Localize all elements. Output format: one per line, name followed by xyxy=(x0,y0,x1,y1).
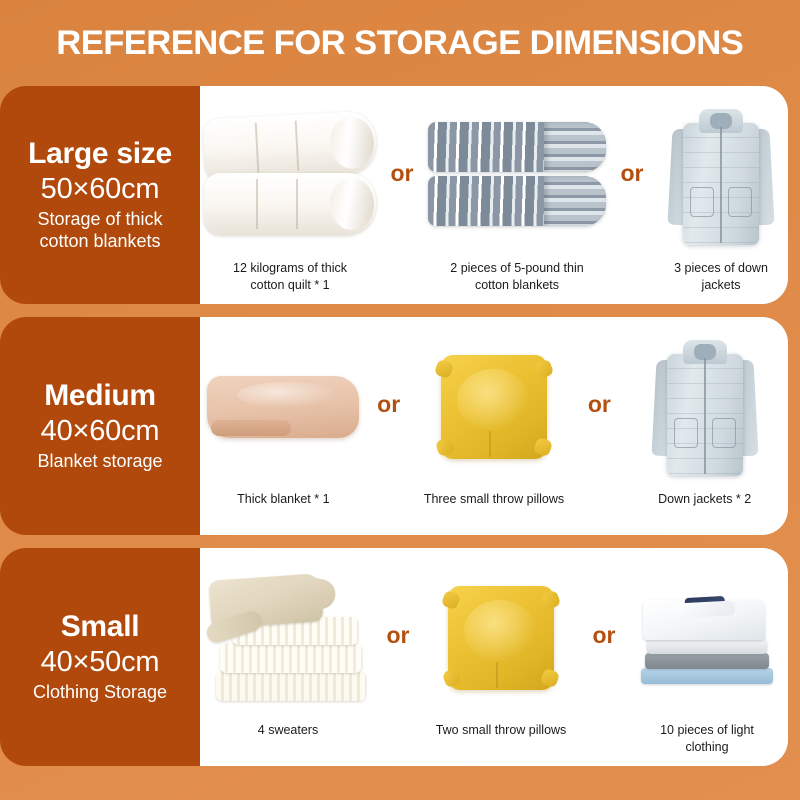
size-label: Large size xyxy=(28,137,172,171)
item-cell: Three small throw pillows xyxy=(411,317,578,535)
item-cell: Two small throw pillows xyxy=(420,548,582,766)
yellow-throw-pillow-icon xyxy=(448,586,554,690)
or-separator: or xyxy=(367,317,411,535)
item-illustration xyxy=(625,323,784,491)
or-separator: or xyxy=(577,317,621,535)
item-illustration xyxy=(428,92,606,260)
size-label: Medium xyxy=(44,379,156,413)
caption-line-2: jackets xyxy=(702,278,741,292)
item-caption: 12 kilograms of thick cotton quilt * 1 xyxy=(233,260,347,294)
item-illustration xyxy=(204,323,363,491)
or-separator: or xyxy=(376,548,420,766)
down-jacket-icon xyxy=(669,101,773,251)
caption-line-1: 12 kilograms of thick xyxy=(233,261,347,275)
item-cell: Down jackets * 2 xyxy=(621,317,788,535)
item-cell: 4 sweaters xyxy=(200,548,376,766)
item-caption: 4 sweaters xyxy=(258,722,318,756)
gray-striped-blankets-icon xyxy=(428,120,606,232)
item-illustration xyxy=(658,92,784,260)
caption-line-2: cotton blankets xyxy=(475,278,559,292)
item-illustration xyxy=(204,554,372,722)
or-separator: or xyxy=(610,86,654,304)
caption-line-1: 2 pieces of 5-pound thin xyxy=(450,261,583,275)
item-illustration xyxy=(415,323,574,491)
or-separator: or xyxy=(582,548,626,766)
item-caption: Two small throw pillows xyxy=(436,722,567,756)
dimension-label: 40×50cm xyxy=(41,644,160,680)
description-label: Storage of thick cotton blankets xyxy=(33,209,166,252)
size-label: Small xyxy=(61,610,140,644)
item-cell: Thick blanket * 1 xyxy=(200,317,367,535)
row-label-panel-small: Small 40×50cm Clothing Storage xyxy=(0,548,200,766)
row-content-panel-small: 4 sweaters or Two small throw pillows or xyxy=(200,548,788,766)
header-bar: REFERENCE FOR STORAGE DIMENSIONS xyxy=(0,0,800,86)
down-jacket-icon xyxy=(653,332,757,482)
item-cell: 12 kilograms of thick cotton quilt * 1 xyxy=(200,86,380,304)
page-title: REFERENCE FOR STORAGE DIMENSIONS xyxy=(57,24,744,63)
caption-line-2: cotton quilt * 1 xyxy=(250,278,329,292)
item-cell: 10 pieces of light clothing xyxy=(626,548,788,766)
item-caption: 10 pieces of light clothing xyxy=(660,722,754,756)
caption-line-2: clothing xyxy=(685,740,728,754)
caption-line-1: 3 pieces of down xyxy=(674,261,768,275)
size-rows-container: Large size 50×60cm Storage of thick cott… xyxy=(0,86,800,778)
folded-shirts-icon xyxy=(637,592,777,684)
description-line-1: Storage of thick xyxy=(37,209,162,229)
item-caption: Three small throw pillows xyxy=(424,491,564,525)
pink-fleece-blanket-icon xyxy=(207,364,359,450)
description-label: Clothing Storage xyxy=(29,682,171,704)
item-illustration xyxy=(424,554,578,722)
size-row-medium: Medium 40×60cm Blanket storage Thick bla… xyxy=(0,317,800,535)
row-content-panel-medium: Thick blanket * 1 or Three small throw p… xyxy=(200,317,788,535)
description-line-2: cotton blankets xyxy=(39,231,160,251)
row-label-panel-medium: Medium 40×60cm Blanket storage xyxy=(0,317,200,535)
yellow-throw-pillow-icon xyxy=(441,355,547,459)
item-caption: 3 pieces of down jackets xyxy=(674,260,768,294)
item-caption: Thick blanket * 1 xyxy=(237,491,329,525)
item-caption: Down jackets * 2 xyxy=(658,491,751,525)
item-cell: 2 pieces of 5-pound thin cotton blankets xyxy=(424,86,610,304)
item-illustration xyxy=(630,554,784,722)
item-cell: 3 pieces of down jackets xyxy=(654,86,788,304)
folded-white-quilt-icon xyxy=(204,111,376,241)
description-label: Blanket storage xyxy=(33,451,166,473)
dimension-label: 50×60cm xyxy=(41,171,160,207)
item-illustration xyxy=(204,92,376,260)
row-content-panel-large: 12 kilograms of thick cotton quilt * 1 o… xyxy=(200,86,788,304)
stacked-sweaters-icon xyxy=(204,573,372,703)
row-label-panel-large: Large size 50×60cm Storage of thick cott… xyxy=(0,86,200,304)
size-row-small: Small 40×50cm Clothing Storage 4 sweater… xyxy=(0,548,800,766)
item-caption: 2 pieces of 5-pound thin cotton blankets xyxy=(450,260,583,294)
or-separator: or xyxy=(380,86,424,304)
caption-line-1: 10 pieces of light xyxy=(660,723,754,737)
dimension-label: 40×60cm xyxy=(41,413,160,449)
size-row-large: Large size 50×60cm Storage of thick cott… xyxy=(0,86,800,304)
